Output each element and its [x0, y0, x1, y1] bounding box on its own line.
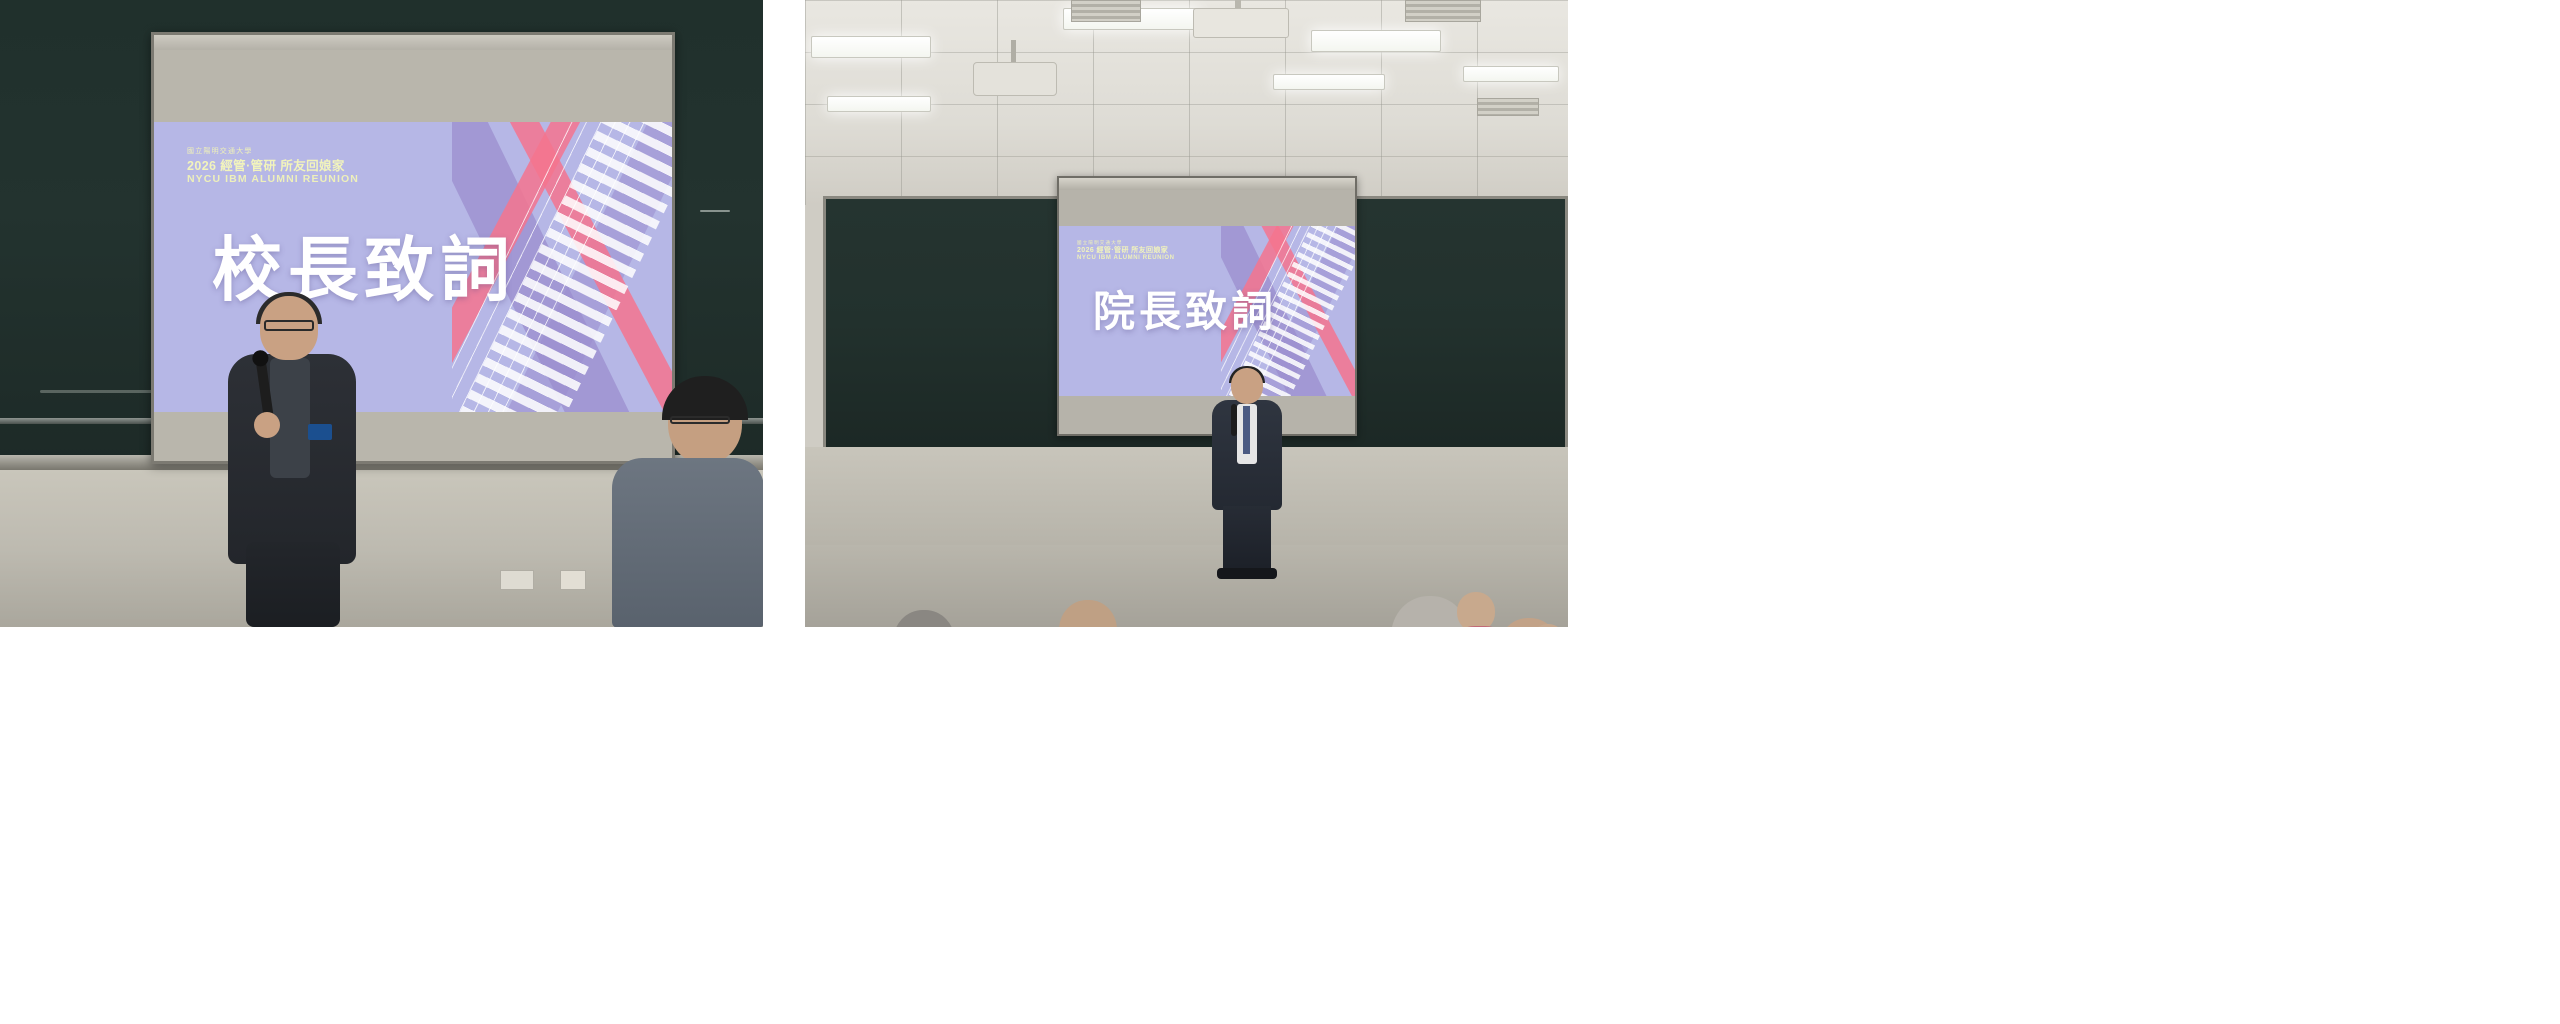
left-speaker-name-badge — [308, 424, 332, 440]
wall-projector — [973, 62, 1057, 96]
right-microphone-icon — [1231, 404, 1237, 436]
right-slide-title: 院長致詞 — [1093, 278, 1277, 339]
right-attendee-4 — [1037, 600, 1149, 627]
ceiling-vent-1 — [1071, 0, 1141, 22]
right-screen-surface: 國立陽明交通大學 2026 經管·管研 所友回娘家 NYCU IBM ALUMN… — [1059, 190, 1355, 434]
ceiling-light-1 — [811, 36, 931, 58]
ceiling-light-3 — [1311, 30, 1441, 52]
right-photo-panel: 國立陽明交通大學 2026 經管·管研 所友回娘家 NYCU IBM ALUMN… — [805, 0, 1568, 627]
ceiling-light-4 — [827, 96, 931, 112]
left-foreground-attendee — [612, 382, 763, 627]
right-slide-event-title-zh: 2026 經管·管研 所友回娘家 — [1077, 247, 1175, 255]
right-projection-screen: 國立陽明交通大學 2026 經管·管研 所友回娘家 NYCU IBM ALUMN… — [1057, 176, 1357, 436]
ceiling-vent-2 — [1405, 0, 1481, 22]
ceiling-light-6 — [1463, 66, 1559, 82]
wall-projector-arm — [1011, 40, 1016, 64]
right-attendee-9 — [1521, 624, 1568, 627]
left-speaker — [222, 296, 362, 627]
right-slide: 國立陽明交通大學 2026 經管·管研 所友回娘家 NYCU IBM ALUMN… — [1059, 226, 1355, 396]
left-room: 國立陽明交通大學 2026 經管·管研 所友回娘家 NYCU IBM ALUMN… — [0, 0, 763, 627]
ceiling-projector — [1193, 8, 1289, 38]
right-attendee-8 — [1445, 592, 1515, 627]
left-photo-panel: 國立陽明交通大學 2026 經管·管研 所友回娘家 NYCU IBM ALUMN… — [0, 0, 763, 627]
right-attendee-2 — [871, 610, 991, 627]
photo-collage: 國立陽明交通大學 2026 經管·管研 所友回娘家 NYCU IBM ALUMN… — [0, 0, 2560, 1024]
right-screen-casing — [1059, 178, 1355, 190]
right-slide-event-title-en: NYCU IBM ALUMNI REUNION — [1077, 255, 1175, 262]
right-slide-header: 國立陽明交通大學 2026 經管·管研 所友回娘家 NYCU IBM ALUMN… — [1077, 240, 1175, 262]
ceiling-vent-3 — [1477, 98, 1539, 116]
right-room: 國立陽明交通大學 2026 經管·管研 所友回娘家 NYCU IBM ALUMN… — [805, 0, 1568, 627]
ceiling-light-5 — [1273, 74, 1385, 90]
right-speaker — [1209, 368, 1285, 584]
right-slide-university-name: 國立陽明交通大學 — [1077, 240, 1175, 245]
panel-gap — [763, 0, 805, 627]
